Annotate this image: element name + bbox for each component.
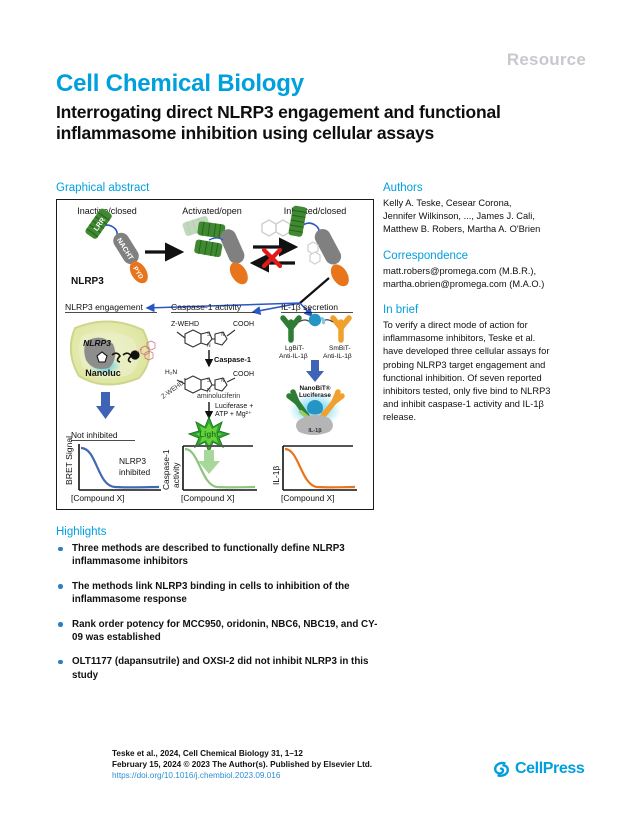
svg-text:SmBiT-: SmBiT-	[329, 345, 351, 352]
in-brief-line: To verify a direct mode of action for	[383, 319, 583, 332]
in-brief-line: have developed three cellular assays for	[383, 345, 583, 358]
in-brief-line: probing NLRP3 target engagement and	[383, 359, 583, 372]
svg-text:Not inhibited: Not inhibited	[71, 430, 118, 440]
cellpress-logo: CellPress	[492, 760, 584, 778]
svg-text:activity: activity	[171, 462, 181, 488]
cellpress-wordmark: CellPress	[515, 760, 584, 778]
svg-text:NLRP3: NLRP3	[83, 338, 111, 348]
svg-text:Caspase-1: Caspase-1	[161, 449, 171, 490]
svg-text:BRET Signal: BRET Signal	[64, 436, 74, 485]
in-brief-line: release.	[383, 411, 583, 424]
svg-text:Light: Light	[199, 430, 219, 439]
svg-text:Z-WEHD: Z-WEHD	[171, 321, 199, 328]
correspondence-list: matt.robers@promega.com (M.B.R.), martha…	[383, 265, 583, 291]
cellpress-mark-icon	[492, 761, 511, 778]
article-title: Interrogating direct NLRP3 engagement an…	[56, 102, 566, 144]
svg-text:NanoBiT®: NanoBiT®	[300, 384, 331, 392]
authors-heading: Authors	[383, 182, 583, 194]
svg-text:NLRP3: NLRP3	[119, 456, 146, 466]
svg-text:Nanoluc: Nanoluc	[85, 368, 121, 378]
svg-text:[Compound X]: [Compound X]	[71, 493, 125, 503]
list-item: Three methods are described to functiona…	[56, 542, 386, 569]
svg-text:NLRP3: NLRP3	[71, 276, 104, 287]
in-brief-heading: In brief	[383, 304, 583, 316]
svg-text:IL-1β: IL-1β	[308, 428, 322, 434]
journal-cover-page: Resource Cell Chemical Biology Interroga…	[0, 0, 642, 829]
authors-line: Matthew B. Robers, Martha A. O'Brien	[383, 223, 583, 236]
svg-text:Caspase-1: Caspase-1	[214, 355, 251, 364]
svg-text:N: N	[207, 343, 211, 349]
footer-citation-block: Teske et al., 2024, Cell Chemical Biolog…	[112, 748, 372, 782]
svg-text:IL-1β: IL-1β	[271, 466, 281, 485]
authors-list: Kelly A. Teske, Cesear Corona, Jennifer …	[383, 197, 583, 237]
right-column: Authors Kelly A. Teske, Cesear Corona, J…	[383, 182, 583, 425]
svg-text:COOH: COOH	[233, 321, 254, 328]
list-item: OLT1177 (dapansutrile) and OXSI-2 did no…	[56, 655, 386, 682]
svg-text:Anti-IL-1β: Anti-IL-1β	[279, 353, 308, 360]
svg-text:N: N	[221, 332, 225, 338]
correspondence-email[interactable]: martha.obrien@promega.com (M.A.O.)	[383, 278, 583, 291]
svg-text:NLRP3 engagement: NLRP3 engagement	[65, 302, 143, 312]
citation-line: Teske et al., 2024, Cell Chemical Biolog…	[112, 748, 372, 759]
svg-text:[Compound X]: [Compound X]	[281, 493, 335, 503]
graphical-abstract-figure: Inactive/closed Activated/open Inhibited…	[56, 199, 374, 510]
graphical-abstract-svg: Inactive/closed Activated/open Inhibited…	[57, 200, 372, 508]
authors-line: Jennifer Wilkinson, ..., James J. Cali,	[383, 210, 583, 223]
publisher-line: February 15, 2024 © 2023 The Author(s). …	[112, 759, 372, 770]
svg-text:aminoluciferin: aminoluciferin	[197, 393, 240, 400]
svg-text:inhibited: inhibited	[119, 467, 151, 477]
in-brief-line: and inhibit caspase-1 activity and IL-1β	[383, 398, 583, 411]
in-brief-line: inflammasome inhibitors, Teske et al.	[383, 332, 583, 345]
doi-link[interactable]: https://doi.org/10.1016/j.chembiol.2023.…	[112, 770, 372, 781]
authors-line: Kelly A. Teske, Cesear Corona,	[383, 197, 583, 210]
correspondence-email[interactable]: matt.robers@promega.com (M.B.R.),	[383, 265, 583, 278]
svg-text:N: N	[221, 378, 225, 384]
highlights-list: Three methods are described to functiona…	[56, 542, 386, 693]
svg-text:IL-1β secretion: IL-1β secretion	[281, 302, 338, 312]
svg-text:Luciferase +: Luciferase +	[215, 403, 253, 410]
list-item: The methods link NLRP3 binding in cells …	[56, 580, 386, 607]
svg-text:COOH: COOH	[233, 371, 254, 378]
list-item: Rank order potency for MCC950, oridonin,…	[56, 618, 386, 645]
correspondence-heading: Correspondence	[383, 250, 583, 262]
journal-title: Cell Chemical Biology	[56, 70, 304, 98]
highlights-heading: Highlights	[56, 526, 107, 538]
svg-text:LgBiT-: LgBiT-	[285, 345, 304, 352]
graphical-abstract-heading: Graphical abstract	[56, 182, 149, 194]
svg-text:ATP + Mg²⁺: ATP + Mg²⁺	[215, 411, 252, 418]
in-brief-body: To verify a direct mode of action for in…	[383, 319, 583, 425]
article-category-label: Resource	[507, 50, 586, 70]
svg-text:[Compound X]: [Compound X]	[181, 493, 235, 503]
in-brief-line: functional inhibition. Of seven reported	[383, 372, 583, 385]
spacer	[383, 237, 583, 250]
in-brief-line: inhibitors tested, only five bind to NLR…	[383, 385, 583, 398]
svg-text:H₂N: H₂N	[165, 369, 177, 376]
spacer	[383, 291, 583, 304]
svg-text:Anti-IL-1β: Anti-IL-1β	[323, 353, 352, 360]
svg-text:Activated/open: Activated/open	[182, 206, 242, 216]
svg-text:Caspase-1 activity: Caspase-1 activity	[171, 302, 242, 312]
